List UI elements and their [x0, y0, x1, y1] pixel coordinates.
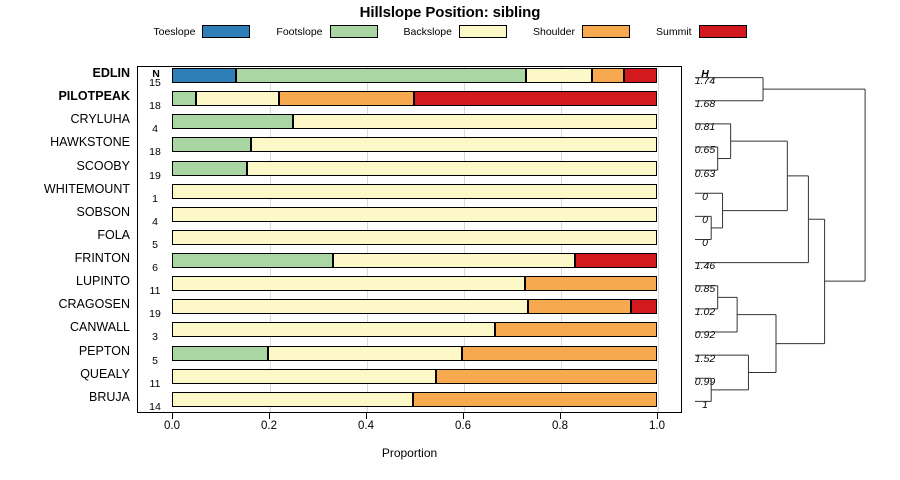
taxon-label: BRUJA: [89, 390, 130, 405]
n-value: 19: [142, 308, 168, 320]
bar-segment-backslope: [172, 369, 436, 384]
stacked-bar: [172, 322, 657, 337]
bar-segment-backslope: [172, 230, 657, 245]
n-value: 19: [142, 170, 168, 182]
taxon-label: PEPTON: [79, 344, 130, 359]
n-value: 5: [142, 239, 168, 251]
bar-segment-backslope: [196, 91, 278, 106]
table-row: FRINTON61.46: [137, 251, 682, 274]
n-value: 1: [142, 193, 168, 205]
stacked-bar: [172, 392, 657, 407]
x-axis-tick-label: 0.2: [249, 420, 289, 432]
table-row: SOBSON40: [137, 205, 682, 228]
stacked-bar: [172, 369, 657, 384]
legend-item-toeslope: Toeslope: [153, 25, 250, 38]
legend-swatch-summit: [699, 25, 747, 38]
stacked-bar: [172, 91, 657, 106]
bar-segment-backslope: [293, 114, 657, 129]
bar-segment-backslope: [526, 68, 592, 83]
x-axis-tick-label: 0.8: [540, 420, 580, 432]
x-axis-tick-label: 0.4: [346, 420, 386, 432]
x-axis-tick: [269, 413, 270, 419]
n-value: 18: [142, 100, 168, 112]
stacked-bar: [172, 230, 657, 245]
x-axis-tick: [657, 413, 658, 419]
bar-segment-summit: [575, 253, 657, 268]
bar-segment-shoulder: [436, 369, 657, 384]
table-row: PILOTPEAK181.68: [137, 89, 682, 112]
bar-segment-toeslope: [172, 68, 236, 83]
taxon-label: FOLA: [97, 228, 130, 243]
x-axis-title: Proportion: [137, 446, 682, 460]
legend-label: Backslope: [404, 26, 452, 38]
taxon-label: HAWKSTONE: [50, 135, 130, 150]
bar-segment-backslope: [251, 137, 657, 152]
table-row: CRYLUHA40.81: [137, 112, 682, 135]
x-axis-tick: [172, 413, 173, 419]
stacked-bar: [172, 68, 657, 83]
legend-label: Summit: [656, 26, 692, 38]
table-row: HAWKSTONE180.65: [137, 135, 682, 158]
table-row: CRAGOSEN191.02: [137, 297, 682, 320]
n-value: 11: [142, 285, 168, 297]
bar-segment-shoulder: [495, 322, 657, 337]
legend-item-summit: Summit: [656, 25, 747, 38]
n-value: 11: [142, 378, 168, 390]
bar-segment-footslope: [172, 114, 293, 129]
table-row: CANWALL30.92: [137, 320, 682, 343]
bar-segment-backslope: [172, 322, 495, 337]
legend-label: Footslope: [276, 26, 322, 38]
taxon-label: SCOOBY: [77, 159, 131, 174]
legend-swatch-backslope: [459, 25, 507, 38]
bar-segment-backslope: [172, 207, 657, 222]
page-title: Hillslope Position: sibling: [0, 4, 900, 21]
bar-segment-footslope: [172, 253, 333, 268]
legend-label: Shoulder: [533, 26, 575, 38]
table-row: PEPTON51.52: [137, 344, 682, 367]
bar-segment-footslope: [172, 91, 196, 106]
bar-segment-summit: [631, 299, 657, 314]
bar-segment-footslope: [172, 137, 251, 152]
bar-segment-backslope: [268, 346, 462, 361]
n-value: 15: [142, 77, 168, 89]
table-row: SCOOBY190.63: [137, 159, 682, 182]
n-value: 5: [142, 355, 168, 367]
taxon-label: PILOTPEAK: [58, 89, 130, 104]
bar-segment-backslope: [172, 392, 413, 407]
taxon-label: CANWALL: [70, 320, 130, 335]
table-row: FOLA50: [137, 228, 682, 251]
bar-segment-backslope: [172, 184, 657, 199]
taxon-label: EDLIN: [93, 66, 131, 81]
bar-segment-shoulder: [525, 276, 657, 291]
chart-root: { "title": "Hillslope Position: sibling"…: [0, 0, 900, 480]
legend-swatch-toeslope: [202, 25, 250, 38]
stacked-bar: [172, 299, 657, 314]
stacked-bar: [172, 346, 657, 361]
bar-segment-footslope: [172, 346, 268, 361]
x-axis-tick: [560, 413, 561, 419]
bar-segment-summit: [624, 68, 657, 83]
table-row: EDLIN151.74: [137, 66, 682, 89]
stacked-bar: [172, 137, 657, 152]
legend-item-backslope: Backslope: [404, 25, 507, 38]
legend-swatch-shoulder: [582, 25, 630, 38]
table-row: LUPINTO110.85: [137, 274, 682, 297]
bar-segment-backslope: [247, 161, 657, 176]
table-row: WHITEMOUNT10: [137, 182, 682, 205]
n-value: 4: [142, 123, 168, 135]
bar-segment-footslope: [236, 68, 526, 83]
taxon-label: QUEALY: [80, 367, 130, 382]
stacked-bar: [172, 184, 657, 199]
n-value: 4: [142, 216, 168, 228]
stacked-bar: [172, 276, 657, 291]
bar-segment-shoulder: [413, 392, 657, 407]
bar-segment-backslope: [172, 276, 525, 291]
n-value: 6: [142, 262, 168, 274]
taxon-label: WHITEMOUNT: [44, 182, 130, 197]
bar-segment-shoulder: [462, 346, 657, 361]
table-row: BRUJA141: [137, 390, 682, 413]
table-row: QUEALY110.99: [137, 367, 682, 390]
bar-rows: EDLIN151.74PILOTPEAK181.68CRYLUHA40.81HA…: [137, 66, 682, 413]
bar-segment-shoulder: [528, 299, 631, 314]
stacked-bar: [172, 253, 657, 268]
x-axis-tick: [366, 413, 367, 419]
bar-segment-backslope: [172, 299, 528, 314]
bar-segment-summit: [414, 91, 657, 106]
taxon-label: SOBSON: [77, 205, 131, 220]
legend-label: Toeslope: [153, 26, 195, 38]
x-axis-tick-label: 1.0: [637, 420, 677, 432]
n-value: 14: [142, 401, 168, 413]
taxon-label: LUPINTO: [76, 274, 130, 289]
legend: ToeslopeFootslopeBackslopeShoulderSummit: [0, 25, 900, 38]
taxon-label: CRAGOSEN: [58, 297, 130, 312]
bar-segment-footslope: [172, 161, 247, 176]
stacked-bar: [172, 161, 657, 176]
dendrogram-svg: [690, 60, 900, 420]
x-axis-tick-label: 0.0: [152, 420, 192, 432]
taxon-label: FRINTON: [75, 251, 130, 266]
n-value: 3: [142, 331, 168, 343]
n-value: 18: [142, 146, 168, 158]
stacked-bar: [172, 114, 657, 129]
bar-segment-backslope: [333, 253, 575, 268]
bar-segment-shoulder: [592, 68, 624, 83]
legend-item-shoulder: Shoulder: [533, 25, 630, 38]
taxon-label: CRYLUHA: [70, 112, 130, 127]
x-axis-tick-label: 0.6: [443, 420, 483, 432]
legend-item-footslope: Footslope: [276, 25, 377, 38]
legend-swatch-footslope: [330, 25, 378, 38]
stacked-bar: [172, 207, 657, 222]
x-axis-tick: [463, 413, 464, 419]
dendrogram: [690, 60, 900, 420]
bar-segment-shoulder: [279, 91, 415, 106]
